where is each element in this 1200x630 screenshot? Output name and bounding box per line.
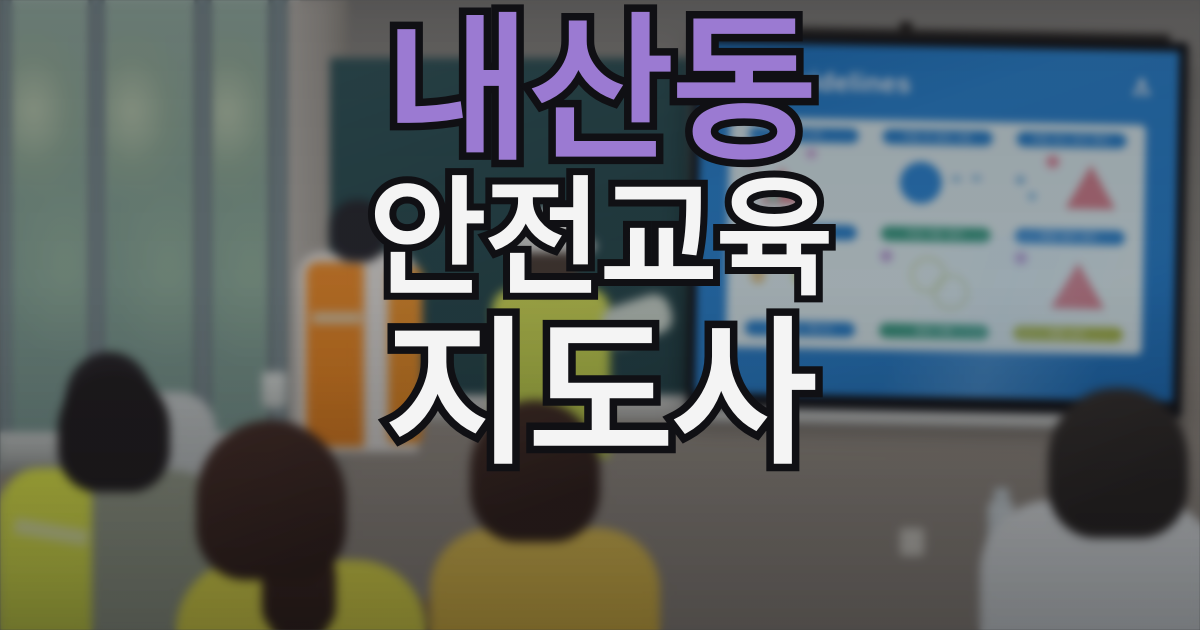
title-line-3: 지도사 xyxy=(385,316,815,474)
title-overlay: 내산동 안전교육 지도사 xyxy=(0,0,1200,630)
title-line-1: 내산동 xyxy=(385,12,815,170)
thumbnail-canvas: ety Guidelines 안전 수칙 xyxy=(0,0,1200,630)
title-line-2: 안전교육 xyxy=(368,176,831,304)
